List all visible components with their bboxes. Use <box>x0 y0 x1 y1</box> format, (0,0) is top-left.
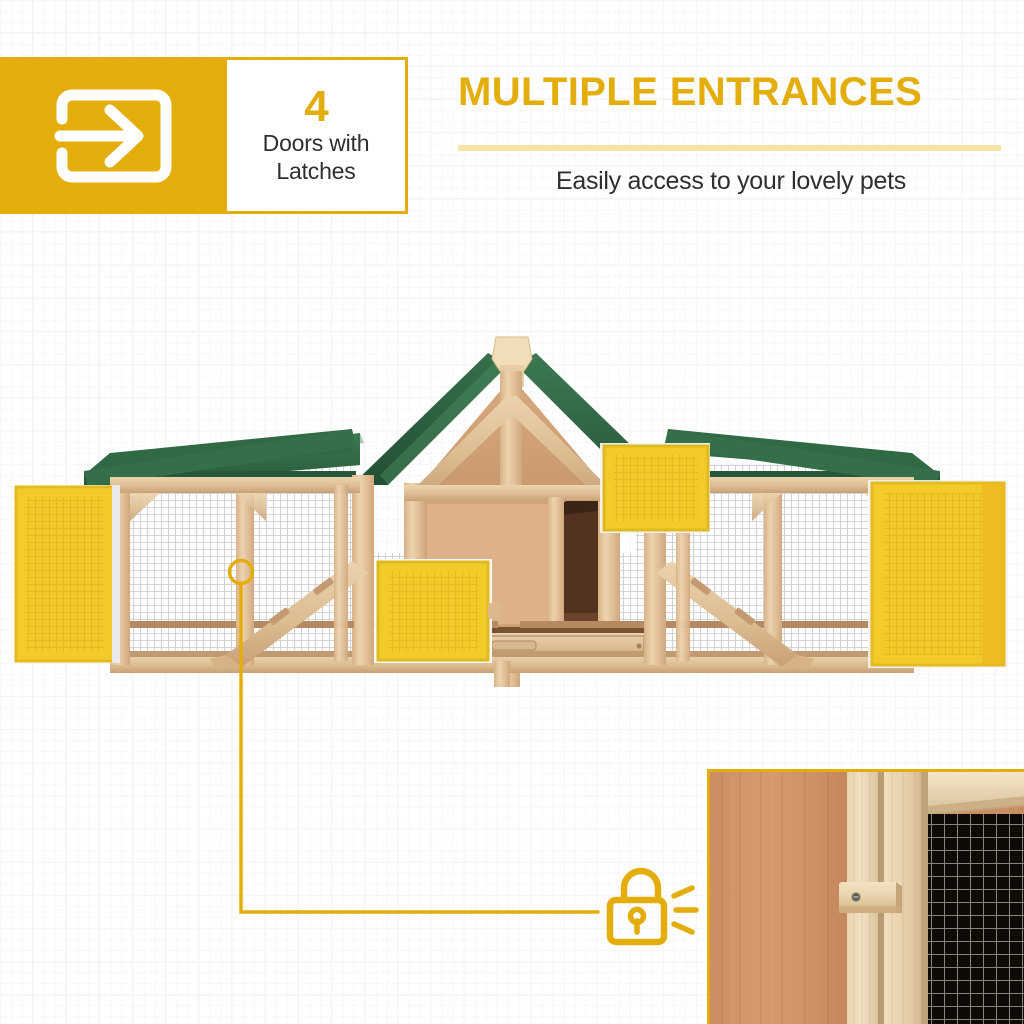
title-divider <box>458 145 1001 151</box>
enter-arrow-icon <box>52 87 174 190</box>
latch-highlight-marker <box>230 561 253 584</box>
open-padlock-icon <box>604 862 700 953</box>
badge-caption-line-2: Latches <box>263 157 370 185</box>
badge-count: 4 <box>304 86 327 128</box>
badge-caption: Doors with Latches <box>263 129 370 185</box>
wooden-latch <box>839 882 902 913</box>
badge-text-box: 4 Doors with Latches <box>227 57 408 214</box>
page-title: MULTIPLE ENTRANCES <box>458 72 1004 112</box>
page-subtitle: Easily access to your lovely pets <box>458 166 1004 196</box>
badge-caption-line-1: Doors with <box>263 129 370 157</box>
latch-closeup-photo <box>707 769 1024 1024</box>
badge-icon-block <box>0 57 227 214</box>
